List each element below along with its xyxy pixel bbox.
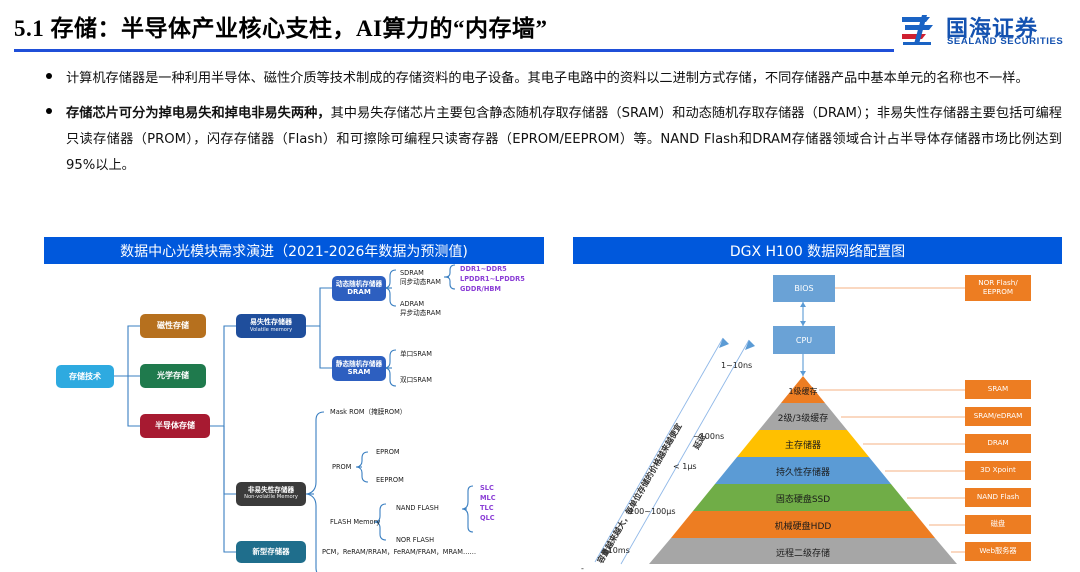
latency-label-3: < 1μs: [673, 462, 697, 471]
box-nor-flash-eeprom-label: NOR Flash/ EEPROM: [978, 279, 1018, 296]
memory-type-label-0: SRAM: [965, 380, 1031, 399]
memory-hierarchy-diagram: BIOS CPU NOR Flash/ EEPROM 1级缓存 2级/3级缓存 …: [573, 264, 1062, 570]
slide-root: 5.1 存储：半导体产业核心支柱，AI算力的“内存墙” 国海证券 SEALAND…: [0, 0, 1080, 572]
leaf-newtype-list: PCM，ReRAM/RRAM，FeRAM/FRAM，MRAM……: [322, 548, 476, 558]
pyramid-tier-4-label: 固态硬盘SSD: [776, 492, 830, 505]
leaf-lpddr: LPDDR1~LPDDR5: [460, 275, 525, 285]
tree-node-dram-sublabel: DRAM: [347, 288, 371, 296]
box-cpu-label: CPU: [796, 336, 812, 345]
tree-node-volatile-label: 易失性存储器: [250, 318, 292, 326]
pyramid-tier-2-label: 主存储器: [785, 438, 821, 451]
memory-type-label-3: 3D Xpoint: [965, 461, 1031, 480]
leaf-tlc: TLC: [480, 504, 494, 514]
bullet-item-1: 计算机存储器是一种利用半导体、磁性介质等技术制成的存储资料的电子设备。其电子电路…: [44, 66, 1062, 92]
memory-type-label-1: SRAM/eDRAM: [965, 407, 1031, 426]
box-cpu: CPU: [773, 326, 835, 354]
bullet-text-2-bold: 存储芯片可分为掉电易失和掉电非易失两种，: [66, 106, 331, 121]
box-bios: BIOS: [773, 275, 835, 302]
pyramid-tier-3-label: 持久性存储器: [776, 465, 830, 478]
page-title: 5.1 存储：半导体产业核心支柱，AI算力的“内存墙”: [14, 9, 548, 43]
tree-node-newtype-label: 新型存储器: [253, 548, 290, 557]
memory-type-label-1-text: SRAM/eDRAM: [974, 412, 1023, 421]
pyramid-tier-6: 远程二级存储: [753, 544, 853, 560]
memory-type-label-6-text: Web服务器: [979, 547, 1016, 556]
pyramid-tier-2: 主存储器: [753, 436, 853, 452]
leaf-gddr: GDDR/HBM: [460, 285, 501, 295]
pyramid-tier-1: 2级/3级缓存: [753, 409, 853, 425]
tree-node-semiconductor-label: 半导体存储: [155, 421, 195, 430]
tree-node-magnetic-label: 磁性存储: [157, 321, 189, 330]
latency-label-6: -: [581, 564, 584, 572]
tree-node-newtype: 新型存储器: [236, 541, 306, 563]
tree-node-optical: 光学存储: [140, 364, 206, 388]
tree-node-nonvolatile: 非易失性存储器 Non-volatile Memory: [236, 482, 306, 506]
tree-node-sram-sublabel: SRAM: [348, 368, 371, 376]
tree-node-magnetic: 磁性存储: [140, 314, 206, 338]
tree-node-sram: 静态随机存储器 SRAM: [332, 356, 386, 381]
tree-node-root-label: 存储技术: [69, 372, 101, 381]
tree-node-optical-label: 光学存储: [157, 371, 189, 380]
tree-node-dram-label: 动态随机存储器: [336, 281, 382, 289]
right-figure-panel: DGX H100 数据网络配置图: [573, 237, 1062, 570]
tree-node-volatile-sublabel: Volatile memory: [250, 328, 292, 334]
pyramid-tier-5: 机械硬盘HDD: [753, 517, 853, 533]
leaf-nor-flash: NOR FLASH: [396, 536, 434, 546]
memory-type-label-2-text: DRAM: [987, 439, 1008, 448]
tree-node-nonvolatile-sublabel: Non-volatile Memory: [244, 495, 298, 501]
pyramid-tier-4: 固态硬盘SSD: [753, 490, 853, 506]
header-divider: [14, 49, 894, 52]
tree-node-volatile: 易失性存储器 Volatile memory: [236, 314, 306, 338]
leaf-qlc: QLC: [480, 514, 495, 524]
memory-type-label-4-text: NAND Flash: [977, 493, 1019, 502]
tree-node-sram-label: 静态随机存储器: [336, 361, 382, 369]
bullet-dot-icon: [46, 73, 52, 79]
leaf-sram-single-port: 单口SRAM: [400, 350, 432, 360]
pyramid-tier-3: 持久性存储器: [753, 463, 853, 479]
leaf-ddr: DDR1~DDR5: [460, 265, 507, 275]
memory-type-label-3-text: 3D Xpoint: [980, 466, 1016, 475]
bullet-list: 计算机存储器是一种利用半导体、磁性介质等技术制成的存储资料的电子设备。其电子电路…: [44, 66, 1062, 188]
leaf-nand-flash: NAND FLASH: [396, 504, 439, 514]
logo-text-en: SEALAND SECURITIES: [947, 36, 1063, 47]
tree-node-dram: 动态随机存储器 DRAM: [332, 276, 386, 301]
company-logo: 国海证券 SEALAND SECURITIES: [900, 12, 1070, 50]
tree-connector-lines: [44, 264, 544, 570]
pyramid-tier-0: 1级缓存: [753, 383, 853, 399]
leaf-mask-rom: Mask ROM（掩膜ROM）: [330, 408, 406, 418]
tree-node-semiconductor: 半导体存储: [140, 414, 210, 438]
storage-technology-tree: 存储技术 磁性存储 光学存储 半导体存储 易失性存储器 Volatile mem…: [44, 264, 544, 570]
memory-type-label-6: Web服务器: [965, 542, 1031, 561]
pyramid-tier-1-label: 2级/3级缓存: [778, 411, 829, 424]
memory-type-label-2: DRAM: [965, 434, 1031, 453]
tree-node-root: 存储技术: [56, 365, 114, 388]
box-nor-flash-eeprom: NOR Flash/ EEPROM: [965, 275, 1031, 301]
memory-type-label-5: 磁盘: [965, 515, 1031, 534]
pyramid-tier-0-label: 1级缓存: [788, 386, 817, 397]
bullet-text-1: 计算机存储器是一种利用半导体、磁性介质等技术制成的存储资料的电子设备。其电子电路…: [66, 71, 1029, 86]
leaf-mlc: MLC: [480, 494, 496, 504]
leaf-adram-cn: 异步动态RAM: [400, 309, 441, 319]
bullet-dot-icon: [46, 108, 52, 114]
left-figure-panel: 数据中心光模块需求演进（2021-2026年数据为预测值): [44, 237, 544, 570]
leaf-sram-dual-port: 双口SRAM: [400, 376, 432, 386]
box-bios-label: BIOS: [794, 284, 813, 293]
leaf-eprom: EPROM: [376, 448, 400, 458]
tree-node-nonvolatile-label: 非易失性存储器: [248, 487, 294, 495]
memory-type-label-4: NAND Flash: [965, 488, 1031, 507]
pyramid-tier-5-label: 机械硬盘HDD: [775, 519, 832, 532]
left-panel-title: 数据中心光模块需求演进（2021-2026年数据为预测值): [44, 237, 544, 264]
leaf-flash-memory: FLASH Memory: [330, 518, 380, 528]
memory-type-label-0-text: SRAM: [988, 385, 1008, 394]
latency-label-0: 1~10ns: [721, 361, 752, 370]
leaf-prom: PROM: [332, 463, 351, 473]
bullet-item-2: 存储芯片可分为掉电易失和掉电非易失两种，其中易失存储芯片主要包含静态随机存取存储…: [44, 101, 1062, 179]
leaf-eeprom: EEPROM: [376, 476, 404, 486]
leaf-sdram-cn: 同步动态RAM: [400, 278, 441, 288]
memory-type-label-5-text: 磁盘: [991, 520, 1005, 529]
pyramid-tier-6-label: 远程二级存储: [776, 546, 830, 559]
sealand-logo-icon: [900, 13, 940, 47]
leaf-slc: SLC: [480, 484, 494, 494]
right-panel-title: DGX H100 数据网络配置图: [573, 237, 1062, 264]
slide-header: 5.1 存储：半导体产业核心支柱，AI算力的“内存墙” 国海证券 SEALAND…: [0, 0, 1080, 56]
